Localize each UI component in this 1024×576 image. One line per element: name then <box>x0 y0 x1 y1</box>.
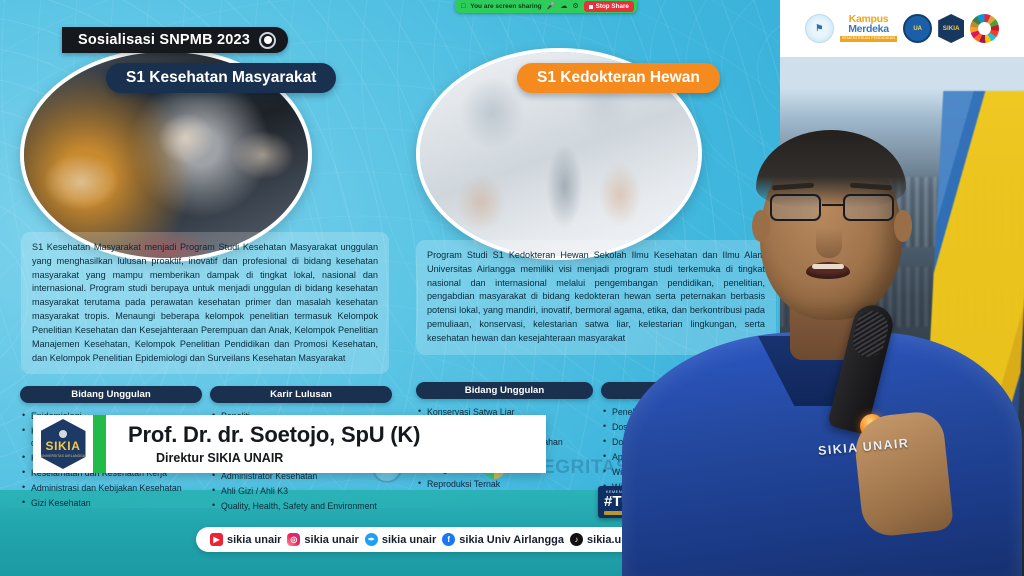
speaker-hand <box>852 410 954 539</box>
microphone-icon[interactable]: 🎤 <box>547 3 556 10</box>
program-column-kesehatan-masyarakat: S1 Kesehatan Masyarakat S1 Kesehatan Mas… <box>8 0 394 576</box>
social-item-instagram[interactable]: ◎ sikia unair <box>287 533 358 546</box>
social-label: sikia unair <box>382 534 436 546</box>
stop-square-icon <box>589 5 593 9</box>
settings-icon[interactable]: ⚙ <box>572 3 578 10</box>
tiktok-icon: ♪ <box>570 533 583 546</box>
social-item-youtube[interactable]: ▶ sikia unair <box>210 533 281 546</box>
social-label: sikia unair <box>227 534 281 546</box>
list-item: Quality, Health, Safety and Environment <box>212 500 392 512</box>
list-item: Ahli Gizi / Ahli K3 <box>212 485 392 497</box>
column-header-karir-lulusan: Karir Lulusan <box>210 386 392 403</box>
sikia-shield-icon: SIKIA UNIVERSITAS AIRLANGGA <box>41 419 86 469</box>
program-badge-kesehatan-masyarakat: S1 Kesehatan Masyarakat <box>106 63 336 93</box>
page-title: Sosialisasi SNPMB 2023 <box>78 32 250 48</box>
speaker-ear-right <box>894 210 912 242</box>
lower-third-name-banner: SIKIA UNIVERSITAS AIRLANGGA Prof. Dr. dr… <box>33 415 546 473</box>
record-dot-icon <box>259 32 276 49</box>
program-badge-kedokteran-hewan: S1 Kedokteran Hewan <box>517 63 720 93</box>
partner-logo-strip: ⚑ Kampus Merdeka KEMENTERIAN PENDIDIKAN … <box>780 0 1024 57</box>
slide-title-pill: Sosialisasi SNPMB 2023 <box>62 27 288 53</box>
column-header-bidang-unggulan: Bidang Unggulan <box>20 386 202 403</box>
accent-bar <box>93 415 106 473</box>
stop-share-button[interactable]: Stop Share <box>584 1 634 12</box>
speaker-mouth <box>806 262 850 279</box>
cloud-icon[interactable]: ☁ <box>560 3 567 10</box>
social-item-twitter[interactable]: ✒ sikia unair <box>365 533 436 546</box>
eyeglasses-icon <box>768 194 896 222</box>
program-description-kesehatan-masyarakat: S1 Kesehatan Masyarakat menjadi Program … <box>21 232 389 374</box>
social-label: sikia Univ Airlangga <box>459 534 564 546</box>
youtube-icon: ▶ <box>210 533 223 546</box>
stop-share-label: Stop Share <box>596 3 629 10</box>
instagram-icon: ◎ <box>287 533 300 546</box>
column-header-bidang-unggulan: Bidang Unggulan <box>416 382 593 399</box>
social-label: sikia unair <box>304 534 358 546</box>
speaker-nose <box>816 228 842 258</box>
speaker-name: Prof. Dr. dr. Soetojo, SpU (K) <box>128 423 420 447</box>
screen-share-icon: □ <box>461 3 465 10</box>
lower-third-text: Prof. Dr. dr. Soetojo, SpU (K) Direktur … <box>106 423 420 465</box>
screen-share-toolbar: □ You are screen sharing 🎤 ☁ ⚙ Stop Shar… <box>455 0 637 13</box>
kemdikbud-logo: ⚑ <box>805 14 834 43</box>
facebook-icon: f <box>442 533 455 546</box>
speaker-video-subject: SIKIA UNAIR <box>610 118 1024 576</box>
list-item: Gizi Kesehatan <box>22 497 202 509</box>
sikia-logo-name: SIKIA <box>45 439 80 453</box>
sdgs-logo <box>970 14 999 43</box>
speaker-role: Direktur SIKIA UNAIR <box>128 451 420 465</box>
unair-logo: UA <box>903 14 932 43</box>
sikia-logo-sub: UNIVERSITAS AIRLANGGA <box>41 454 86 458</box>
kampus-merdeka-line2: Merdeka <box>848 25 889 35</box>
kampus-merdeka-logo: Kampus Merdeka KEMENTERIAN PENDIDIKAN <box>840 15 897 41</box>
screen-share-stage: Sosialisasi SNPMB 2023 S1 Kesehatan Masy… <box>0 0 1024 576</box>
share-status-text: You are screen sharing <box>470 3 541 10</box>
list-item: Reproduksi Ternak <box>418 478 593 490</box>
lower-third-logo: SIKIA UNIVERSITAS AIRLANGGA <box>33 419 93 469</box>
social-item-facebook[interactable]: f sikia Univ Airlangga <box>442 533 564 546</box>
sikia-logo: SIKIA <box>938 14 964 43</box>
list-item: Administrasi dan Kebijakan Kesehatan <box>22 482 202 494</box>
twitter-icon: ✒ <box>365 533 378 546</box>
kampus-merdeka-tagline: KEMENTERIAN PENDIDIKAN <box>840 36 897 41</box>
